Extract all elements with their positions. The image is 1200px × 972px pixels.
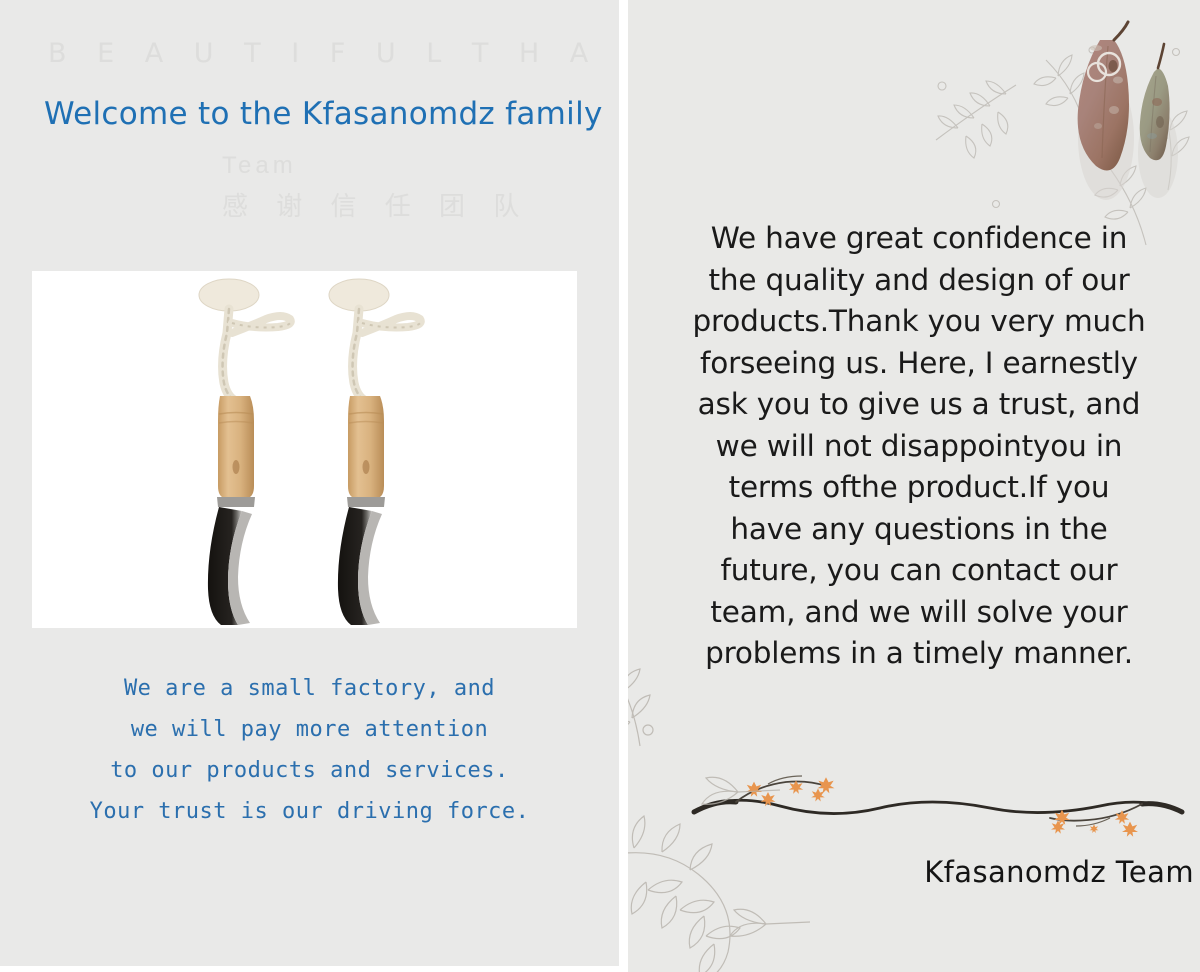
ghost-heading-watermark: B E A U T I F U L T H A N K Y O U: [48, 38, 619, 69]
thank-you-card: B E A U T I F U L T H A N K Y O U Welcom…: [0, 0, 1200, 972]
letter-line: forseeing us. Here, I earnestly: [684, 343, 1154, 385]
letter-body: We have great confidence in the quality …: [684, 218, 1154, 675]
knife-illustration-left: [182, 271, 302, 628]
left-panel: B E A U T I F U L T H A N K Y O U Welcom…: [0, 0, 619, 966]
letter-line: problems in a timely manner.: [684, 633, 1154, 675]
right-panel: We have great confidence in the quality …: [628, 0, 1200, 972]
ghost-cjk-watermark: 感 谢 信 任 团 队: [222, 186, 529, 223]
tagline-line: to our products and services.: [0, 750, 619, 791]
letter-line: ask you to give us a trust, and: [684, 384, 1154, 426]
letter-line: products.Thank you very much: [684, 301, 1154, 343]
product-image: [32, 271, 577, 628]
dried-leaves-icon: [1062, 18, 1194, 213]
tagline-line: we will pay more attention: [0, 709, 619, 750]
tagline-line: We are a small factory, and: [0, 668, 619, 709]
letter-line: terms ofthe product.If you: [684, 467, 1154, 509]
letter-line: we will not disappointyou in: [684, 426, 1154, 468]
letter-line: We have great confidence in: [684, 218, 1154, 260]
ghost-subheading-watermark: Team: [222, 152, 297, 180]
letter-line: have any questions in the: [684, 509, 1154, 551]
panel-divider: [619, 0, 628, 972]
letter-line: the quality and design of our: [684, 260, 1154, 302]
tagline-line: Your trust is our driving force.: [0, 791, 619, 832]
botanical-vine-icon: [628, 662, 908, 972]
botanical-sprig-icon: [906, 0, 1200, 250]
branch-divider-icon: [690, 756, 1190, 846]
letter-line: team, and we will solve your: [684, 592, 1154, 634]
welcome-title: Welcome to the Kfasanomdz family: [44, 96, 603, 132]
factory-tagline: We are a small factory, and we will pay …: [0, 668, 619, 832]
knife-illustration-right: [312, 271, 432, 628]
letter-line: future, you can contact our: [684, 550, 1154, 592]
signature: Kfasanomdz Team: [924, 855, 1194, 889]
